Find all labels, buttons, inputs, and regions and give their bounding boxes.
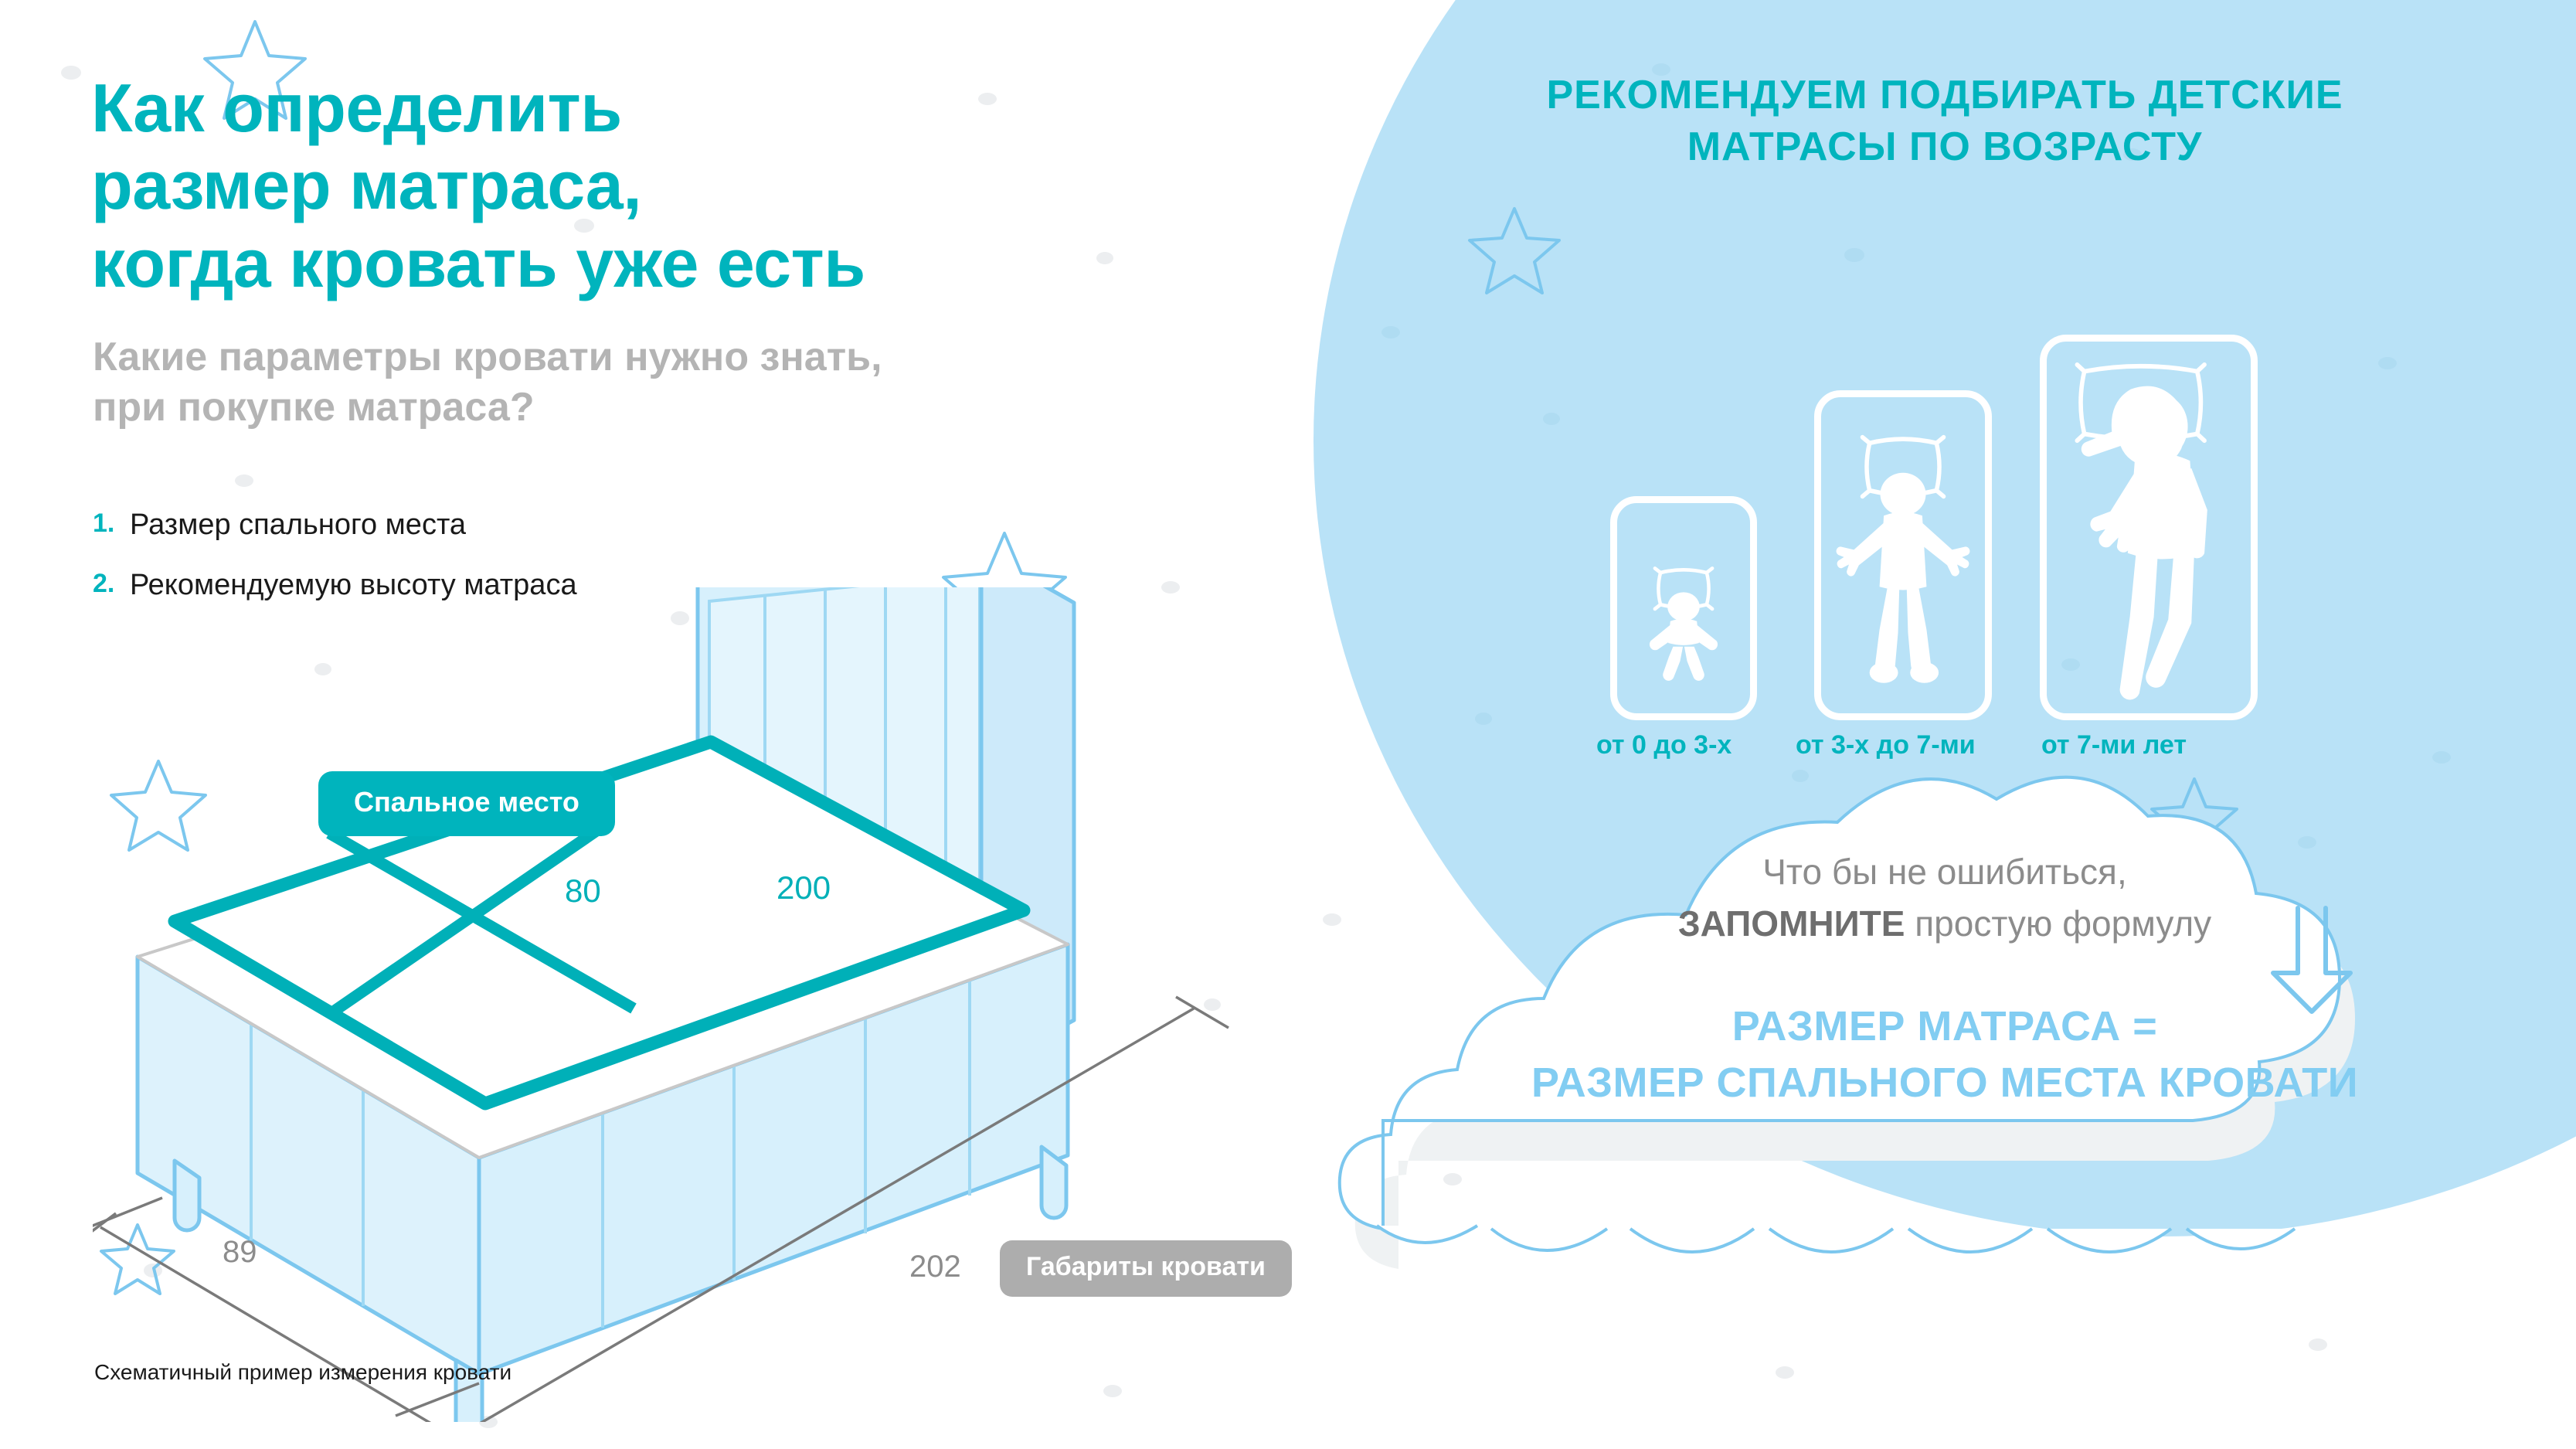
bed-length-label: 202: [909, 1250, 961, 1284]
diagram-caption: Схематичный пример измерения кровати: [94, 1360, 511, 1385]
sleeping-area-badge[interactable]: Спальное место: [318, 771, 615, 836]
mattress-card-age-0-3[interactable]: [1610, 496, 1757, 720]
bed-depth-label: 89: [223, 1235, 257, 1270]
formula-text: РАЗМЕР МАТРАСА = РАЗМЕР СПАЛЬНОГО МЕСТА …: [1313, 998, 2576, 1111]
bed-diagram: [93, 587, 1344, 1422]
mattress-card-age-7-plus[interactable]: [2040, 335, 2258, 720]
infographic-canvas: Как определить размер матраса, когда кро…: [0, 0, 2576, 1449]
age-mattress-row: от 0 до 3-х от 3-х до 7-ми от 7-ми лет: [1313, 193, 2576, 734]
mattress-width-label: 80: [565, 872, 601, 910]
list-item-label: Размер спального места: [130, 508, 466, 543]
cloud-line-1: Что бы не ошибиться,: [1313, 846, 2576, 898]
left-column: Как определить размер матраса, когда кро…: [0, 0, 1313, 1449]
formula-line-1: РАЗМЕР МАТРАСА =: [1313, 998, 2576, 1055]
page-subtitle: Какие параметры кровати нужно знать, при…: [93, 332, 1174, 433]
mattress-length-label: 200: [777, 869, 831, 906]
cloud-text-block: Что бы не ошибиться, ЗАПОМНИТЕ простую ф…: [1313, 846, 2576, 949]
toddler-silhouette-icon: [1821, 397, 1985, 713]
page-title-line-2: размер матраса,: [91, 147, 641, 223]
bed-illustration-svg: [93, 587, 1344, 1422]
mattress-card-age-3-7[interactable]: [1814, 390, 1992, 720]
cloud-line-2-rest: простую формулу: [1905, 903, 2211, 944]
page-subtitle-line-1: Какие параметры кровати нужно знать,: [93, 335, 882, 379]
page-title: Как определить размер матраса, когда кро…: [91, 70, 1250, 302]
page-title-line-1: Как определить: [91, 70, 622, 146]
age-section-title-line-2: МАТРАСЫ ПО ВОЗРАСТУ: [1687, 124, 2203, 169]
child-silhouette-icon: [2047, 342, 2251, 713]
cloud-line-2: ЗАПОМНИТЕ простую формулу: [1313, 898, 2576, 950]
page-subtitle-line-2: при покупке матраса?: [93, 385, 535, 430]
age-section-title: РЕКОМЕНДУЕМ ПОДБИРАТЬ ДЕТСКИЕ МАТРАСЫ ПО…: [1313, 70, 2576, 172]
age-section-title-line-1: РЕКОМЕНДУЕМ ПОДБИРАТЬ ДЕТСКИЕ: [1546, 73, 2343, 117]
baby-silhouette-icon: [1617, 503, 1750, 713]
right-column: РЕКОМЕНДУЕМ ПОДБИРАТЬ ДЕТСКИЕ МАТРАСЫ ПО…: [1313, 0, 2576, 1449]
cloud-line-2-bold: ЗАПОМНИТЕ: [1678, 903, 1905, 944]
list-item: 1. Размер спального места: [93, 508, 1097, 543]
list-item-number: 1.: [93, 508, 130, 539]
formula-line-2: РАЗМЕР СПАЛЬНОГО МЕСТА КРОВАТИ: [1313, 1055, 2576, 1111]
page-title-line-3: когда кровать уже есть: [91, 225, 865, 301]
bed-dimensions-badge[interactable]: Габариты кровати: [1000, 1240, 1292, 1297]
